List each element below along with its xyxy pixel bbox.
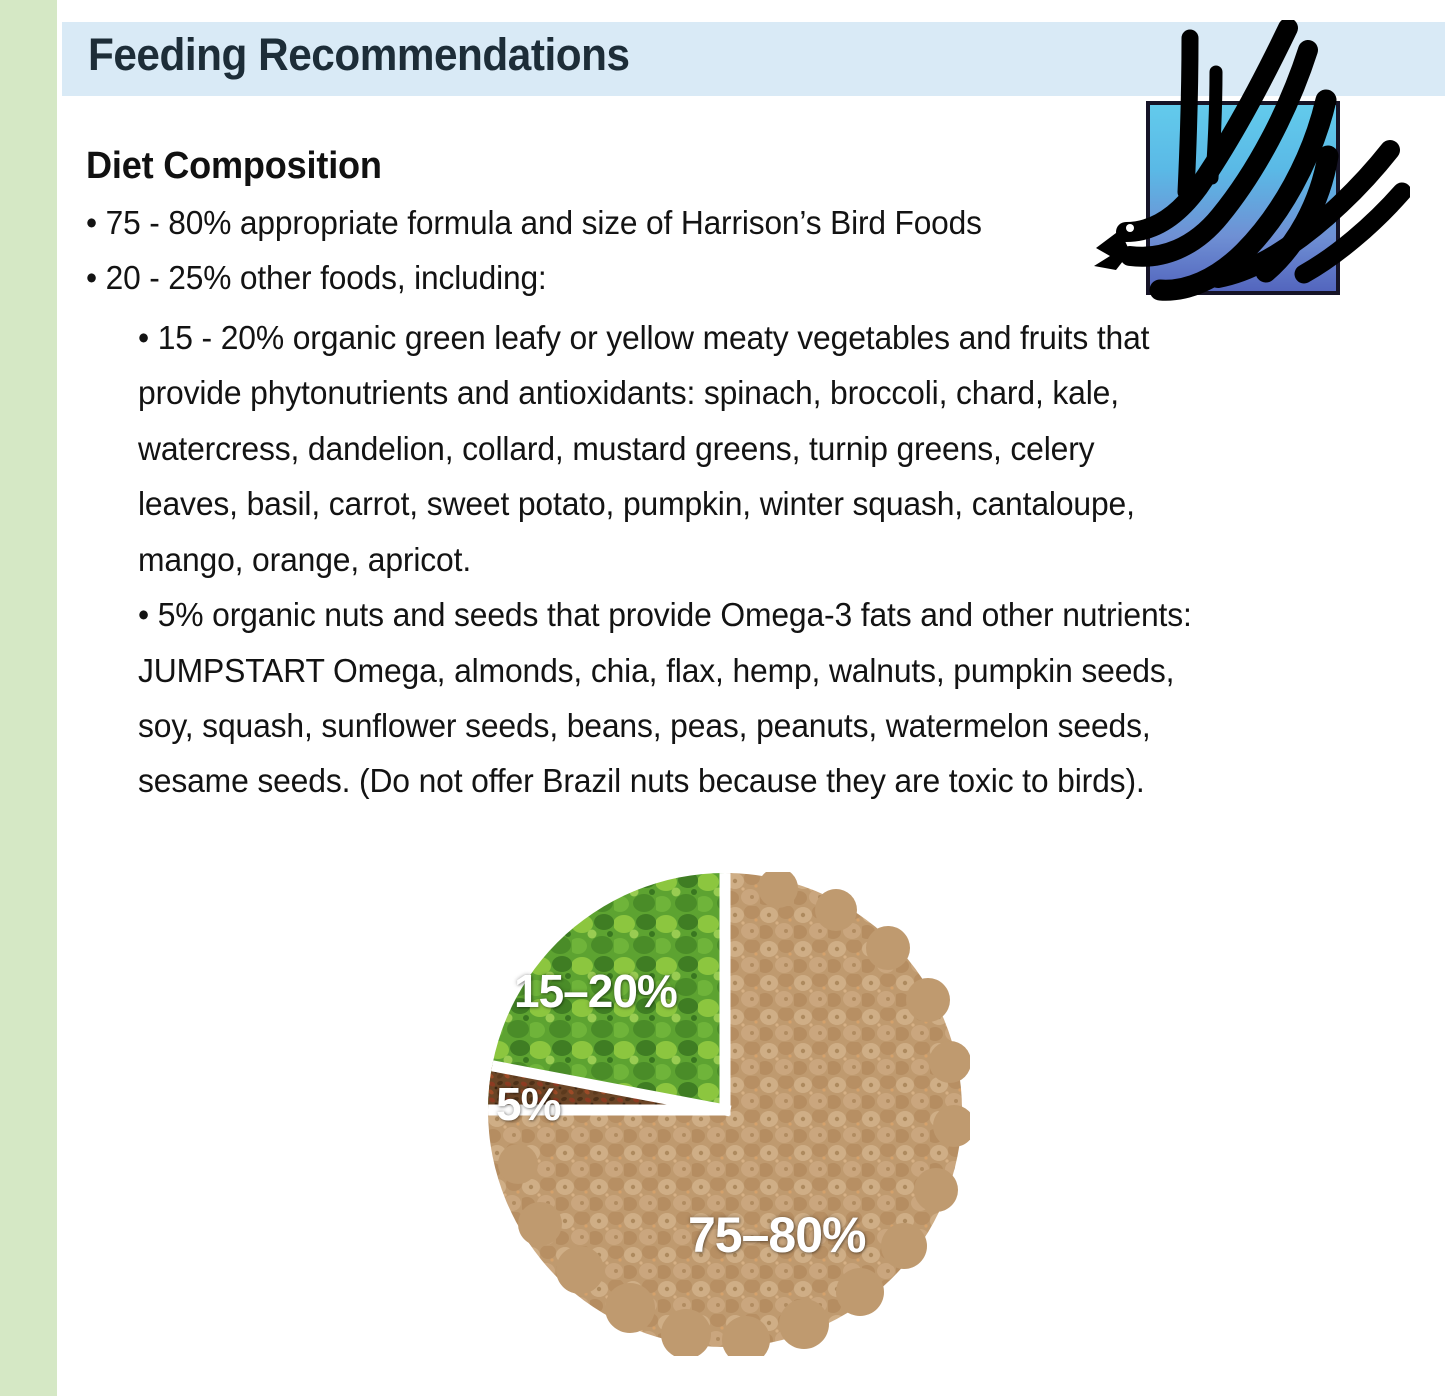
left-accent-stripe bbox=[0, 0, 57, 1396]
bullet-marker: • bbox=[138, 596, 149, 633]
bullet-marker: • bbox=[138, 319, 149, 356]
sub-bullet-item: • 5% organic nuts and seeds that provide… bbox=[138, 587, 1200, 809]
sub-bullet-list: • 15 - 20% organic green leafy or yellow… bbox=[138, 310, 1206, 809]
diet-composition-pie-chart: 15–20% 5% 75–80% bbox=[488, 872, 970, 1356]
page-title: Feeding Recommendations bbox=[88, 29, 630, 81]
bullet-text: 75 - 80% appropriate formula and size of… bbox=[106, 204, 982, 241]
bullet-text: 5% organic nuts and seeds that provide O… bbox=[138, 596, 1192, 799]
section-heading: Diet Composition bbox=[86, 146, 1150, 187]
content-body: Diet Composition • 75 - 80% appropriate … bbox=[86, 146, 1206, 809]
bullet-text: 20 - 25% other foods, including: bbox=[106, 259, 547, 296]
sub-bullet-item: • 15 - 20% organic green leafy or yellow… bbox=[138, 310, 1200, 587]
pie-svg bbox=[488, 872, 970, 1356]
bullet-item: • 20 - 25% other foods, including: bbox=[86, 250, 1161, 305]
bullet-marker: • bbox=[86, 204, 97, 241]
bullet-item: • 75 - 80% appropriate formula and size … bbox=[86, 195, 1161, 250]
bullet-marker: • bbox=[86, 259, 97, 296]
bullet-text: 15 - 20% organic green leafy or yellow m… bbox=[138, 319, 1149, 578]
